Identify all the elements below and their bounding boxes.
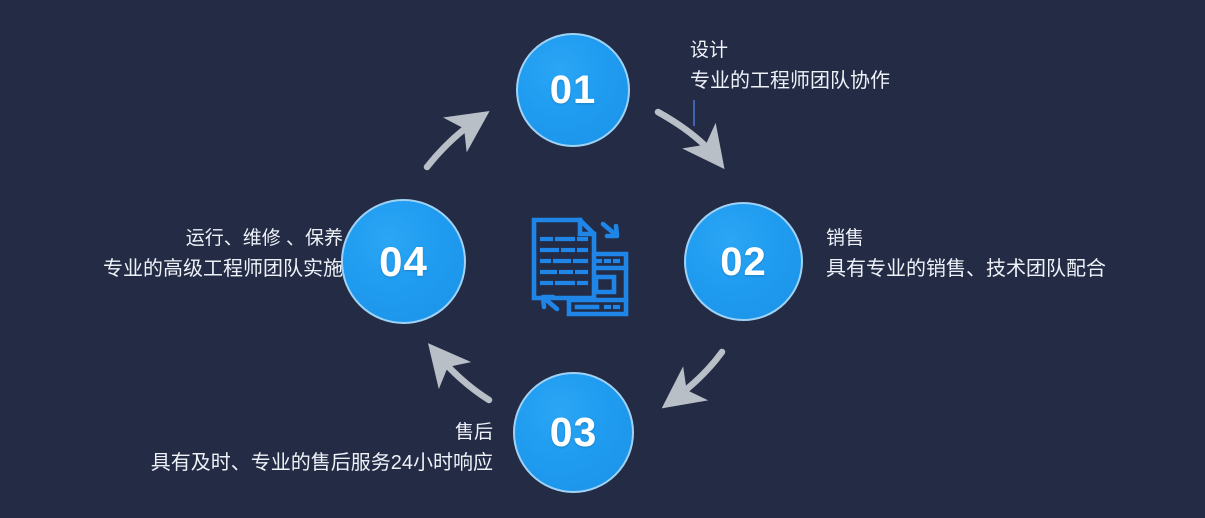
arrow-03-to-04 — [437, 354, 489, 400]
cycle-label-02: 销售 具有专业的销售、技术团队配合 — [826, 226, 1106, 283]
cycle-node-01-number: 01 — [550, 70, 597, 110]
cycle-label-04: 运行、维修 、保养 专业的高级工程师团队实施 — [103, 226, 343, 283]
cycle-label-03-description: 具有及时、专业的售后服务24小时响应 — [151, 450, 493, 477]
cycle-node-04[interactable]: 04 — [341, 199, 466, 324]
cycle-label-01-title: 设计 — [690, 38, 890, 64]
cycle-label-03: 售后 具有及时、专业的售后服务24小时响应 — [151, 420, 493, 477]
cycle-label-03-title: 售后 — [151, 420, 493, 446]
service-cycle-diagram: 01 02 03 04 设计 专业的工程师团队协作 销售 具有专业的销售、技术团… — [0, 0, 1205, 518]
cycle-label-01: 设计 专业的工程师团队协作 — [690, 38, 890, 95]
cycle-label-04-description: 专业的高级工程师团队实施 — [103, 256, 343, 283]
document-sync-icon — [521, 208, 639, 326]
cycle-node-02-number: 02 — [720, 242, 767, 282]
cycle-node-02[interactable]: 02 — [684, 202, 803, 321]
cycle-label-02-title: 销售 — [826, 226, 1106, 252]
text-caret-artifact — [693, 100, 695, 126]
cycle-label-02-description: 具有专业的销售、技术团队配合 — [826, 256, 1106, 283]
cycle-node-04-number: 04 — [379, 241, 428, 283]
arrow-02-to-03 — [673, 352, 722, 400]
cycle-label-04-title: 运行、维修 、保养 — [103, 226, 343, 252]
cycle-node-01[interactable]: 01 — [516, 33, 630, 147]
cycle-node-03[interactable]: 03 — [513, 372, 634, 493]
arrow-01-to-02 — [658, 112, 716, 158]
cycle-node-03-number: 03 — [550, 412, 598, 453]
arrow-04-to-01 — [427, 119, 478, 167]
cycle-label-01-description: 专业的工程师团队协作 — [690, 68, 890, 95]
